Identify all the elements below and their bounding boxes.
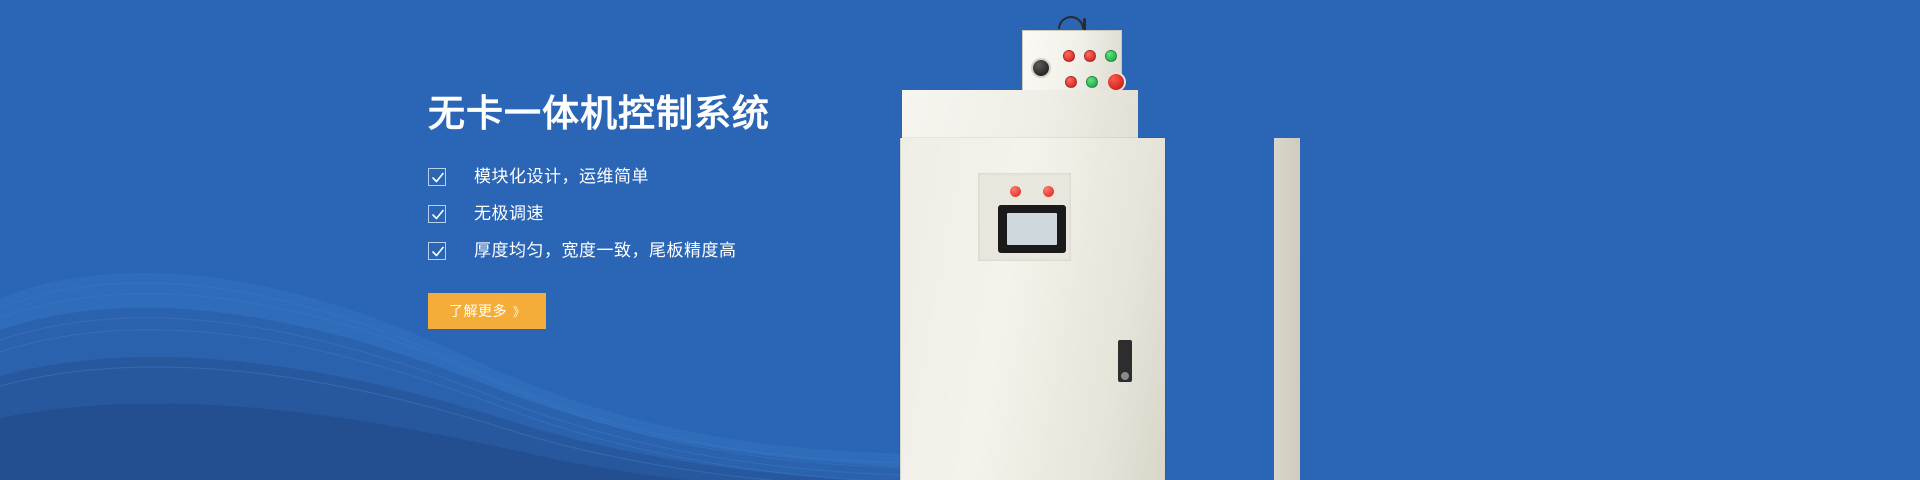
- learn-more-label: 了解更多: [449, 301, 507, 321]
- push-button-red: [1084, 50, 1096, 62]
- checkbox-checked-icon: [428, 242, 446, 260]
- hero-banner: 无卡一体机控制系统 模块化设计，运维简单 无极调速: [0, 0, 1920, 480]
- feature-label: 厚度均匀，宽度一致，尾板精度高: [474, 238, 737, 264]
- cabinet-top-cap: [902, 90, 1138, 140]
- hmi-touch-screen: [998, 205, 1066, 253]
- hmi-screen-surface: [1007, 213, 1057, 245]
- learn-more-button[interactable]: 了解更多 》: [428, 293, 546, 329]
- feature-label: 无极调速: [474, 201, 544, 227]
- indicator-light-red: [1043, 186, 1054, 197]
- push-button-red: [1063, 50, 1075, 62]
- emergency-stop-button: [1106, 72, 1126, 92]
- feature-label: 模块化设计，运维简单: [474, 164, 649, 190]
- antenna-icon: [1058, 16, 1084, 29]
- cabinet-side-edge: [1274, 138, 1300, 480]
- chevron-right-icon: 》: [513, 303, 525, 320]
- push-button-green: [1086, 76, 1098, 88]
- push-button-green: [1105, 50, 1117, 62]
- checkbox-checked-icon: [428, 205, 446, 223]
- product-image: [880, 0, 1300, 480]
- cabinet-door-seam: [900, 138, 901, 480]
- push-button-red: [1065, 76, 1077, 88]
- checkbox-checked-icon: [428, 168, 446, 186]
- indicator-light-red: [1010, 186, 1021, 197]
- selector-knob: [1031, 58, 1051, 78]
- cabinet-lock: [1121, 372, 1129, 380]
